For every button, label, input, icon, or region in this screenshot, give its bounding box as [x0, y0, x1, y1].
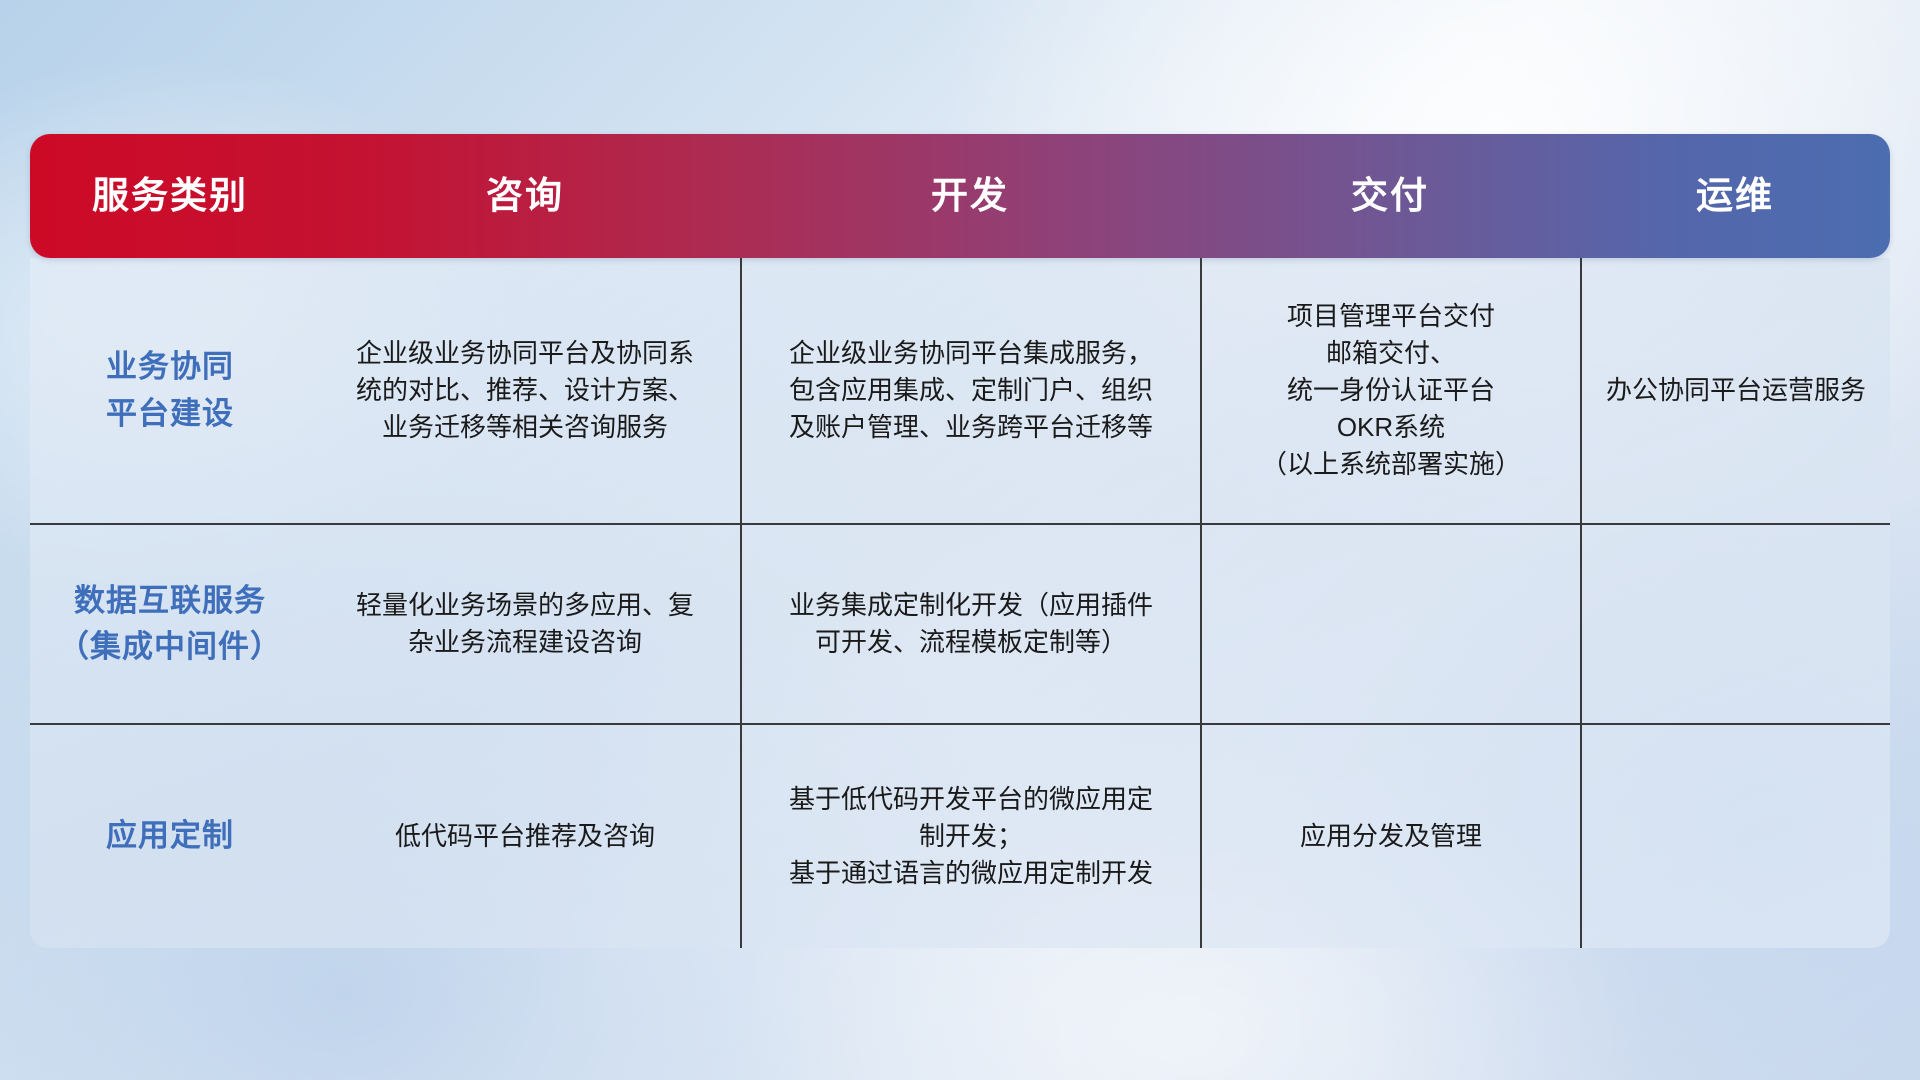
table-body: 业务协同 平台建设 企业级业务协同平台及协同系 统的对比、推荐、设计方案、 业务…: [30, 258, 1890, 948]
cell-operations: [1580, 725, 1890, 948]
table-row: 应用定制 低代码平台推荐及咨询 基于低代码开发平台的微应用定 制开发； 基于通过…: [30, 723, 1890, 948]
cell-development: 基于低代码开发平台的微应用定 制开发； 基于通过语言的微应用定制开发: [740, 725, 1200, 948]
cell-delivery: 项目管理平台交付 邮箱交付、 统一身份认证平台 OKR系统 （以上系统部署实施）: [1200, 258, 1580, 523]
row-category-label: 业务协同 平台建设: [30, 258, 310, 523]
cell-delivery: 应用分发及管理: [1200, 725, 1580, 948]
header-cell-category: 服务类别: [30, 174, 310, 218]
row-category-label: 数据互联服务 （集成中间件）: [30, 525, 310, 723]
cell-operations: [1580, 525, 1890, 723]
header-cell-operations: 运维: [1580, 174, 1890, 218]
table-row: 业务协同 平台建设 企业级业务协同平台及协同系 统的对比、推荐、设计方案、 业务…: [30, 258, 1890, 523]
header-cell-development: 开发: [740, 174, 1200, 218]
header-cell-delivery: 交付: [1200, 174, 1580, 218]
cell-development: 企业级业务协同平台集成服务， 包含应用集成、定制门户、组织 及账户管理、业务跨平…: [740, 258, 1200, 523]
cell-operations: 办公协同平台运营服务: [1580, 258, 1890, 523]
table-header-row: 服务类别 咨询 开发 交付 运维: [30, 134, 1890, 258]
cell-consulting: 企业级业务协同平台及协同系 统的对比、推荐、设计方案、 业务迁移等相关咨询服务: [310, 258, 740, 523]
service-category-table: 服务类别 咨询 开发 交付 运维 业务协同 平台建设 企业级业务协同平台及协同系…: [30, 134, 1890, 948]
cell-development: 业务集成定制化开发（应用插件 可开发、流程模板定制等）: [740, 525, 1200, 723]
row-category-label: 应用定制: [30, 725, 310, 948]
cell-consulting: 低代码平台推荐及咨询: [310, 725, 740, 948]
cell-consulting: 轻量化业务场景的多应用、复 杂业务流程建设咨询: [310, 525, 740, 723]
cell-delivery: [1200, 525, 1580, 723]
header-cell-consulting: 咨询: [310, 174, 740, 218]
table-row: 数据互联服务 （集成中间件） 轻量化业务场景的多应用、复 杂业务流程建设咨询 业…: [30, 523, 1890, 723]
